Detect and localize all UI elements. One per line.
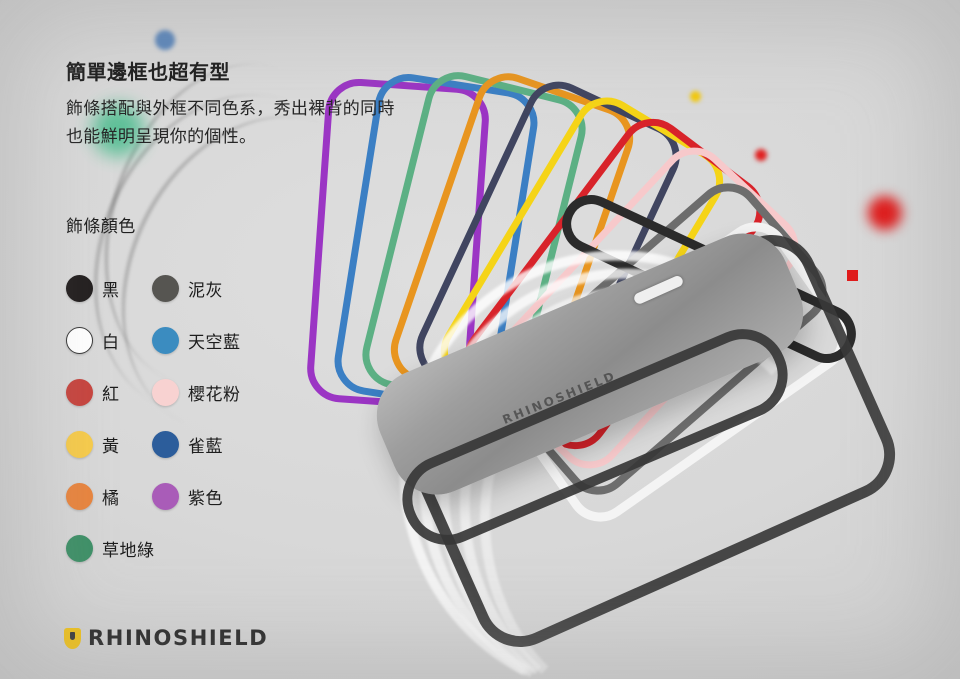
legend-label: 天空藍 bbox=[188, 328, 241, 353]
color-legend: 黑 泥灰 白 天空藍 紅 櫻花粉 bbox=[66, 262, 296, 574]
legend-item-mud-grey[interactable]: 泥灰 bbox=[152, 275, 238, 302]
swatch-purple-icon bbox=[152, 483, 179, 510]
swatch-red-icon bbox=[66, 379, 93, 406]
legend-item-peacock-blue[interactable]: 雀藍 bbox=[152, 431, 238, 458]
power-button-cutout bbox=[632, 274, 684, 305]
swatch-orange-icon bbox=[66, 483, 93, 510]
legend-label: 草地綠 bbox=[102, 536, 155, 561]
legend-item-red[interactable]: 紅 bbox=[66, 379, 152, 406]
legend-row: 紅 櫻花粉 bbox=[66, 366, 296, 418]
confetti-yellow-dot bbox=[690, 91, 701, 102]
confetti-blue-dot bbox=[155, 30, 175, 50]
legend-label: 白 bbox=[102, 328, 120, 353]
legend-label: 泥灰 bbox=[188, 276, 223, 301]
swatch-sky-blue-icon bbox=[152, 327, 179, 354]
swatch-yellow-icon bbox=[66, 431, 93, 458]
legend-item-grass-green[interactable]: 草地綠 bbox=[66, 535, 155, 562]
legend-item-sky-blue[interactable]: 天空藍 bbox=[152, 327, 238, 354]
legend-row: 黑 泥灰 bbox=[66, 262, 296, 314]
brand-logo: RHINOSHIELD bbox=[64, 626, 268, 650]
legend-label: 紫色 bbox=[188, 484, 223, 509]
legend-label: 黑 bbox=[102, 276, 120, 301]
product-marketing-image: RHINOSHIELD 簡單邊框也超有型 飾條搭配與外框不同色系，秀出裸背的同時… bbox=[0, 0, 960, 679]
swatch-grass-green-icon bbox=[66, 535, 93, 562]
page-title: 簡單邊框也超有型 bbox=[66, 60, 406, 86]
legend-row: 白 天空藍 bbox=[66, 314, 296, 366]
subheading-copy: 飾條搭配與外框不同色系，秀出裸背的同時也能鮮明呈現你的個性。 bbox=[66, 95, 396, 150]
swatch-sakura-pink-icon bbox=[152, 379, 179, 406]
legend-item-purple[interactable]: 紫色 bbox=[152, 483, 238, 510]
confetti-red-dot-large bbox=[868, 196, 902, 230]
legend-title: 飾條顏色 bbox=[66, 212, 136, 237]
legend-item-white[interactable]: 白 bbox=[66, 327, 152, 354]
swatch-mud-grey-icon bbox=[152, 275, 179, 302]
legend-item-orange[interactable]: 橘 bbox=[66, 483, 152, 510]
legend-label: 雀藍 bbox=[188, 432, 223, 457]
legend-item-yellow[interactable]: 黃 bbox=[66, 431, 152, 458]
legend-row: 黃 雀藍 bbox=[66, 418, 296, 470]
swatch-peacock-blue-icon bbox=[152, 431, 179, 458]
legend-item-sakura-pink[interactable]: 櫻花粉 bbox=[152, 379, 238, 406]
shield-icon bbox=[64, 628, 81, 649]
legend-label: 櫻花粉 bbox=[188, 380, 241, 405]
legend-label: 紅 bbox=[102, 380, 120, 405]
legend-label: 橘 bbox=[102, 484, 120, 509]
swatch-white-icon bbox=[66, 327, 93, 354]
swatch-black-icon bbox=[66, 275, 93, 302]
brand-name: RHINOSHIELD bbox=[88, 626, 268, 650]
legend-row: 草地綠 bbox=[66, 522, 296, 574]
confetti-red-dot-small bbox=[755, 149, 767, 161]
confetti-red-square bbox=[847, 270, 858, 281]
legend-item-black[interactable]: 黑 bbox=[66, 275, 152, 302]
legend-label: 黃 bbox=[102, 432, 120, 457]
legend-row: 橘 紫色 bbox=[66, 470, 296, 522]
